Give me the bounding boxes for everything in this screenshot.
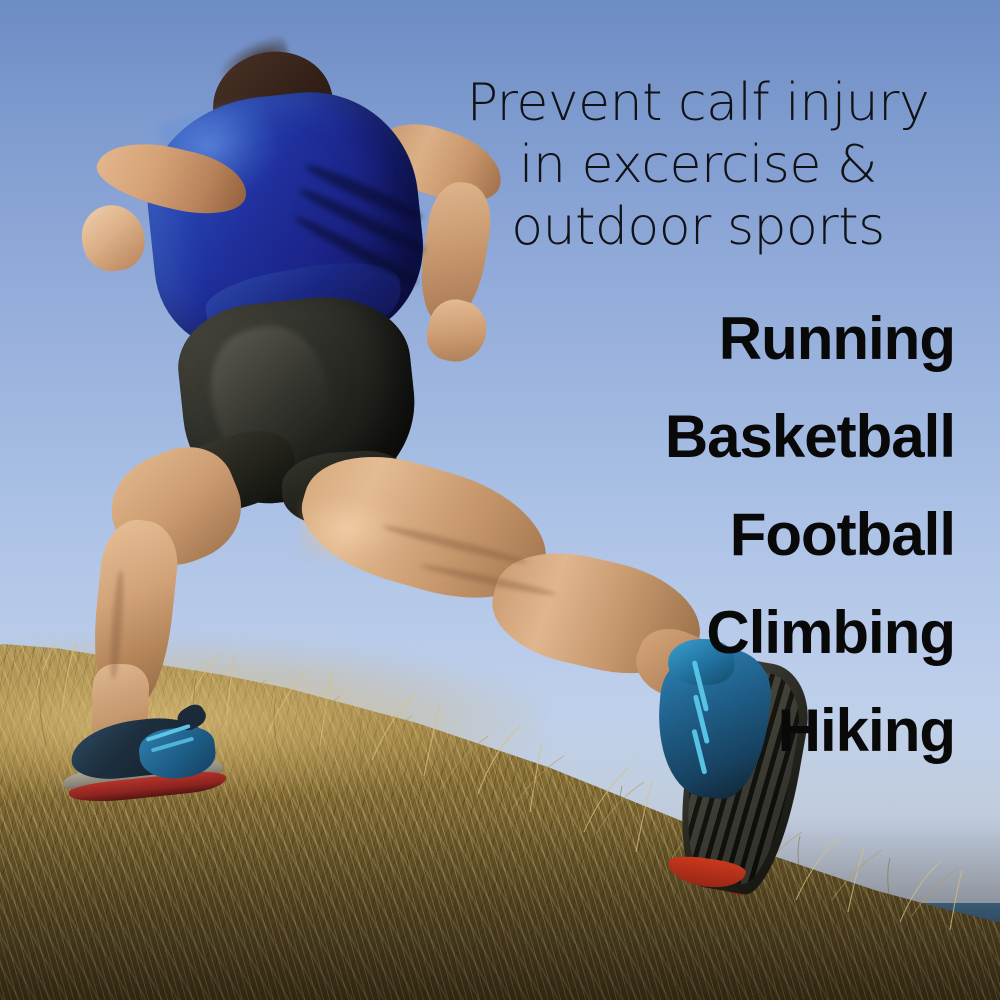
sport-item-running: Running [455, 290, 955, 388]
sport-item-football: Football [455, 486, 955, 584]
headline-text: Prevent calf injury in excercise & outdo… [440, 72, 956, 258]
sports-list: Running Basketball Football Climbing Hik… [455, 290, 955, 780]
sport-item-basketball: Basketball [455, 388, 955, 486]
sport-item-hiking: Hiking [455, 682, 955, 780]
poster-canvas: Prevent calf injury in excercise & outdo… [0, 0, 1000, 1000]
runner-left-fist [77, 200, 150, 276]
runner-left-shoe [52, 709, 228, 812]
headline-line-3: outdoor sports [440, 196, 956, 258]
sport-item-climbing: Climbing [455, 584, 955, 682]
headline-line-2: in excercise & [440, 134, 956, 196]
runner-right-knee [300, 498, 404, 564]
headline-line-1: Prevent calf injury [440, 72, 956, 134]
